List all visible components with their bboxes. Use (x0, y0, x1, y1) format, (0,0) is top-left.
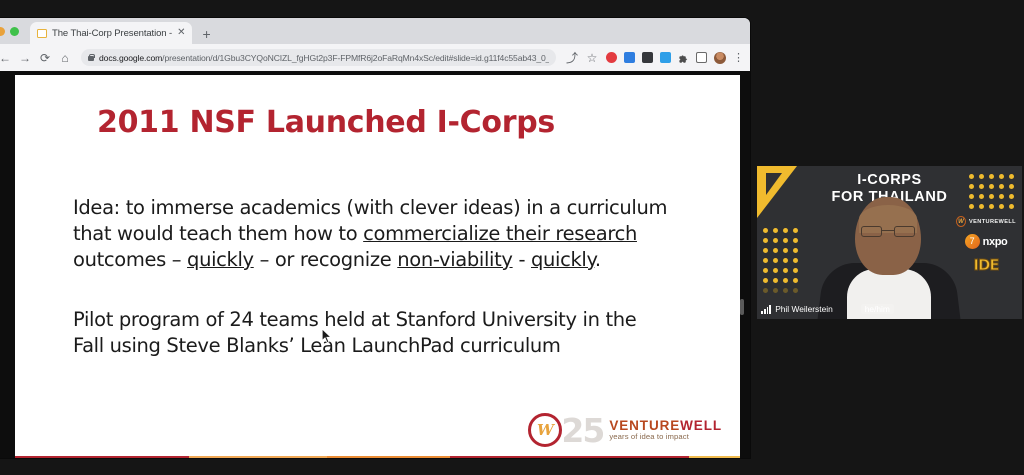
home-icon[interactable]: ⌂ (56, 49, 74, 67)
address-bar-url: docs.google.com/presentation/d/1Gbu3CYQo… (99, 53, 549, 63)
nxpo-logo: 7 nxpo (956, 234, 1016, 249)
venturewell-logo-text: VENTUREWELL (969, 219, 1016, 225)
decoration-dot (763, 268, 768, 273)
venturewell-mark-icon: W (528, 413, 562, 447)
decoration-dot (783, 238, 788, 243)
decoration-dot (979, 184, 984, 189)
decoration-dot (773, 228, 778, 233)
venturewell-tagline: years of idea to impact (609, 433, 722, 441)
decoration-dot (793, 228, 798, 233)
video-participant-tile[interactable]: I-CORPS FOR THAILAND W VENTUREWELL 7 (757, 166, 1022, 319)
decoration-dot (763, 258, 768, 263)
ide-logo-text: IDE (956, 256, 1016, 274)
participant-pronouns: he/him (861, 304, 894, 314)
venturewell-name: VENTUREWELL (609, 419, 722, 433)
mouse-cursor (322, 329, 333, 344)
chrome-menu-icon[interactable]: ⋮ (733, 51, 744, 64)
decoration-dot (999, 184, 1004, 189)
slide-paragraph-1-run-6: - (513, 248, 531, 271)
presentation-slide[interactable]: 2011 NSF Launched I-Corps Idea: to immer… (15, 75, 740, 458)
decoration-dot (989, 194, 994, 199)
venturewell-mark-letter: W (537, 423, 554, 438)
slide-footer-bar (15, 456, 740, 458)
desktop-background: The Thai-Corp Presentation - ✕ + ← → ⟳ ⌂… (0, 0, 1024, 475)
profile-avatar[interactable] (714, 52, 726, 64)
decoration-dot (1009, 194, 1014, 199)
decoration-dot (773, 288, 778, 293)
venturewell-name-a: VENTURE (609, 418, 680, 433)
decoration-dot (979, 194, 984, 199)
close-icon[interactable]: ✕ (177, 28, 185, 38)
slide-paragraph-1-run-2: outcomes – (73, 248, 187, 271)
venturewell-logo-small: W VENTUREWELL (956, 216, 1016, 227)
decoration-dot (763, 248, 768, 253)
decoration-dot (773, 268, 778, 273)
venturewell-name-b: WELL (680, 418, 722, 433)
decoration-dot (1009, 184, 1014, 189)
anniversary-number: 25 (561, 414, 603, 447)
address-bar-host: docs.google.com (99, 53, 162, 63)
chrome-browser-window: The Thai-Corp Presentation - ✕ + ← → ⟳ ⌂… (0, 18, 750, 458)
decoration-dot (783, 228, 788, 233)
decoration-dot (989, 174, 994, 179)
venturewell-wordmark: VENTUREWELL years of idea to impact (609, 419, 722, 441)
slide-paragraph-1-run-5: non-viability (397, 248, 512, 271)
slide-resize-handle[interactable] (740, 299, 744, 315)
decoration-dot (969, 174, 974, 179)
decoration-dot (1009, 204, 1014, 209)
footer-bar-segment-0 (15, 456, 189, 458)
back-icon[interactable]: ← (0, 49, 14, 67)
extension-meet-icon[interactable] (660, 52, 671, 63)
decoration-dot (793, 238, 798, 243)
dot-grid-top-right (969, 174, 1014, 209)
decoration-dot (969, 204, 974, 209)
slide-paragraph-1-run-3: quickly (187, 248, 254, 271)
glasses-icon (861, 226, 915, 237)
nxpo-logo-text: nxpo (983, 236, 1008, 248)
decoration-dot (773, 258, 778, 263)
footer-bar-segment-4 (689, 456, 740, 458)
slides-viewport: 2011 NSF Launched I-Corps Idea: to immer… (0, 71, 750, 458)
window-maximize-button[interactable] (10, 27, 19, 36)
decoration-dot (783, 258, 788, 263)
lock-icon (88, 54, 94, 61)
extension-red-icon[interactable] (606, 52, 617, 63)
decoration-dot (989, 184, 994, 189)
decoration-dot (969, 184, 974, 189)
address-bar[interactable]: docs.google.com/presentation/d/1Gbu3CYQo… (81, 49, 556, 66)
extension-outline-icon[interactable] (696, 52, 707, 63)
browser-tab[interactable]: The Thai-Corp Presentation - ✕ (30, 22, 192, 44)
extensions-puzzle-icon[interactable] (678, 52, 689, 63)
decoration-dot (999, 204, 1004, 209)
decoration-dot (793, 258, 798, 263)
participant-name: Phil Weilerstein (775, 304, 833, 314)
decoration-dot (783, 278, 788, 283)
share-icon[interactable]: ⤴ (563, 49, 581, 67)
extension-blue-doc-icon[interactable] (624, 52, 635, 63)
decoration-dot (793, 268, 798, 273)
decoration-dot (783, 268, 788, 273)
slide-paragraph-2: Pilot program of 24 teams held at Stanfo… (73, 307, 673, 359)
decoration-dot (763, 228, 768, 233)
decoration-dot (773, 278, 778, 283)
decoration-dot (793, 288, 798, 293)
slide-paragraph-1: Idea: to immerse academics (with clever … (73, 195, 673, 273)
venturewell-mark-small-icon: W (956, 216, 966, 227)
glasses-lens-left (861, 226, 882, 237)
dot-grid-bottom-left (763, 228, 798, 293)
browser-tab-strip: The Thai-Corp Presentation - ✕ + (0, 18, 750, 44)
decoration-dot (783, 248, 788, 253)
slides-favicon (37, 29, 47, 38)
decoration-dot (999, 174, 1004, 179)
reload-icon[interactable]: ⟳ (36, 49, 54, 67)
decoration-dot (969, 194, 974, 199)
video-sponsor-logos: W VENTUREWELL 7 nxpo IDE (956, 216, 1016, 281)
decoration-dot (793, 248, 798, 253)
decoration-dot (999, 194, 1004, 199)
decoration-dot (773, 248, 778, 253)
extension-dark-icon[interactable] (642, 52, 653, 63)
decoration-dot (783, 288, 788, 293)
decoration-dot (763, 278, 768, 283)
participant-video-image (821, 199, 957, 319)
slide-paragraph-1-run-1: commercialize their research (363, 222, 637, 245)
signal-bars-icon (761, 305, 771, 314)
forward-icon[interactable]: → (16, 49, 34, 67)
footer-bar-segment-3 (450, 456, 689, 458)
slide-paragraph-1-run-8: . (595, 248, 601, 271)
window-minimize-button[interactable] (0, 27, 5, 36)
decoration-dot (763, 288, 768, 293)
new-tab-button[interactable]: + (202, 27, 210, 41)
decoration-dot (989, 204, 994, 209)
decoration-dot (1009, 174, 1014, 179)
slide-paragraph-1-run-4: – or recognize (254, 248, 398, 271)
decoration-dot (979, 204, 984, 209)
bookmark-star-icon[interactable]: ☆ (583, 49, 601, 67)
venturewell-logo: W 25 VENTUREWELL years of idea to impact (528, 413, 722, 447)
decoration-dot (773, 238, 778, 243)
decoration-dot (763, 238, 768, 243)
glasses-bridge (882, 230, 894, 231)
nxpo-mark-icon: 7 (965, 234, 980, 249)
footer-bar-segment-1 (189, 456, 327, 458)
slide-title: 2011 NSF Launched I-Corps (97, 105, 555, 140)
browser-tab-title: The Thai-Corp Presentation - (52, 28, 172, 39)
slide-paragraph-1-run-7: quickly (531, 248, 595, 271)
decoration-dot (793, 278, 798, 283)
browser-toolbar: ← → ⟳ ⌂ docs.google.com/presentation/d/1… (0, 44, 750, 71)
participant-name-bar: Phil Weilerstein he/him (757, 303, 898, 315)
footer-bar-segment-2 (327, 456, 450, 458)
address-bar-path: /presentation/d/1Gbu3CYQoNCIZL_fgHGt2p3F… (162, 53, 549, 63)
decoration-dot (979, 174, 984, 179)
glasses-lens-right (894, 226, 915, 237)
